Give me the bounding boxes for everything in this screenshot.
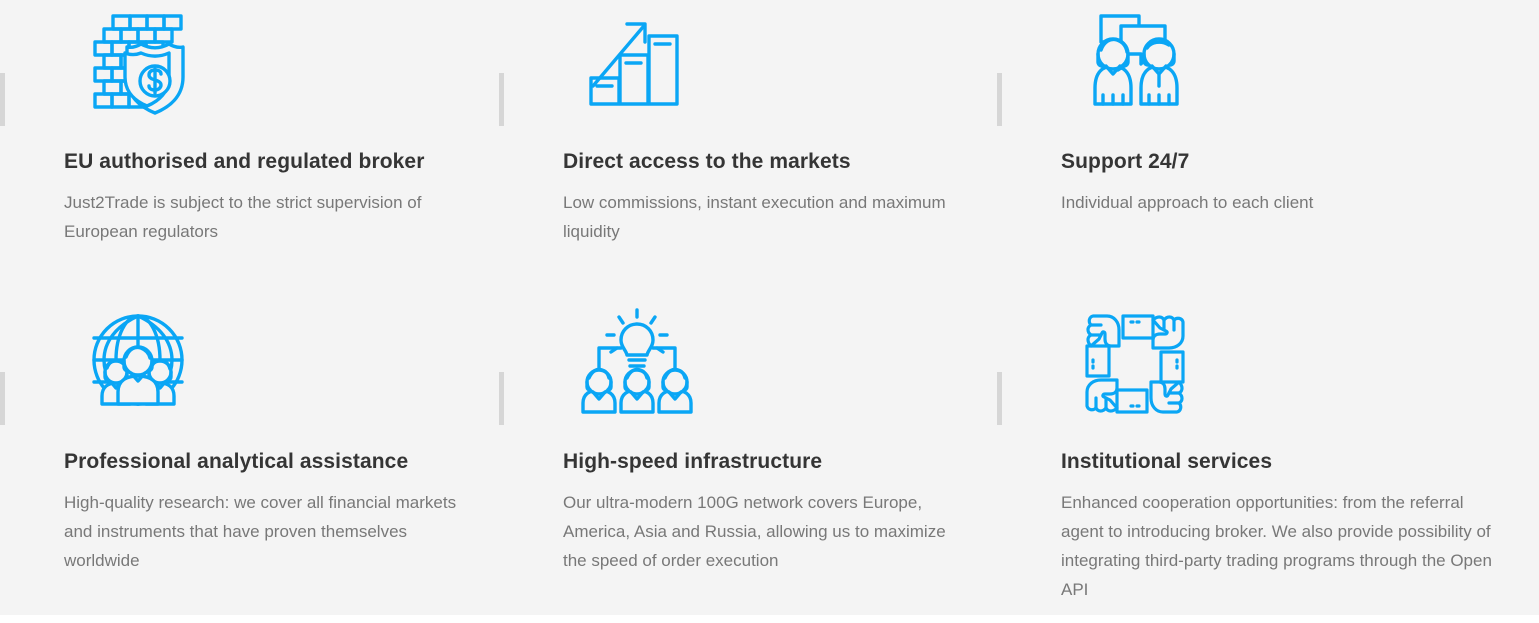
lightbulb-team-network-icon — [563, 300, 955, 420]
feature-description: Individual approach to each client — [1061, 175, 1497, 217]
feature-description: Our ultra-modern 100G network covers Eur… — [563, 475, 955, 575]
feature-card-direct-market-access: Direct access to the markets Low commiss… — [499, 0, 997, 300]
accent-rule — [997, 73, 1002, 126]
feature-description: Just2Trade is subject to the strict supe… — [64, 175, 457, 246]
feature-title: Direct access to the markets — [563, 120, 955, 175]
accent-rule — [499, 73, 504, 126]
feature-card-high-speed-infrastructure: High-speed infrastructure Our ultra-mode… — [499, 300, 997, 615]
accent-rule — [0, 73, 5, 126]
feature-description: Enhanced cooperation opportunities: from… — [1061, 475, 1497, 604]
feature-card-institutional-services: Institutional services Enhanced cooperat… — [997, 300, 1539, 615]
feature-card-support-247: Support 24/7 Individual approach to each… — [997, 0, 1539, 300]
four-hands-teamwork-icon — [1061, 300, 1497, 420]
feature-title: Institutional services — [1061, 420, 1497, 475]
feature-description: High-quality research: we cover all fina… — [64, 475, 457, 575]
globe-people-icon — [64, 300, 457, 420]
features-grid: EU authorised and regulated broker Just2… — [0, 0, 1539, 615]
bottom-strip — [0, 615, 1539, 623]
feature-title: High-speed infrastructure — [563, 420, 955, 475]
features-section: EU authorised and regulated broker Just2… — [0, 0, 1539, 615]
support-agents-chat-icon — [1061, 0, 1497, 120]
accent-rule — [0, 372, 5, 425]
feature-card-eu-regulated-broker: EU authorised and regulated broker Just2… — [0, 0, 499, 300]
feature-title: Professional analytical assistance — [64, 420, 457, 475]
feature-title: Support 24/7 — [1061, 120, 1497, 175]
feature-card-analytical-assistance: Professional analytical assistance High-… — [0, 300, 499, 615]
feature-description: Low commissions, instant execution and m… — [563, 175, 955, 246]
accent-rule — [499, 372, 504, 425]
accent-rule — [997, 372, 1002, 425]
brick-wall-shield-dollar-icon — [64, 0, 457, 120]
growth-bar-chart-arrow-icon — [563, 0, 955, 120]
feature-title: EU authorised and regulated broker — [64, 120, 457, 175]
